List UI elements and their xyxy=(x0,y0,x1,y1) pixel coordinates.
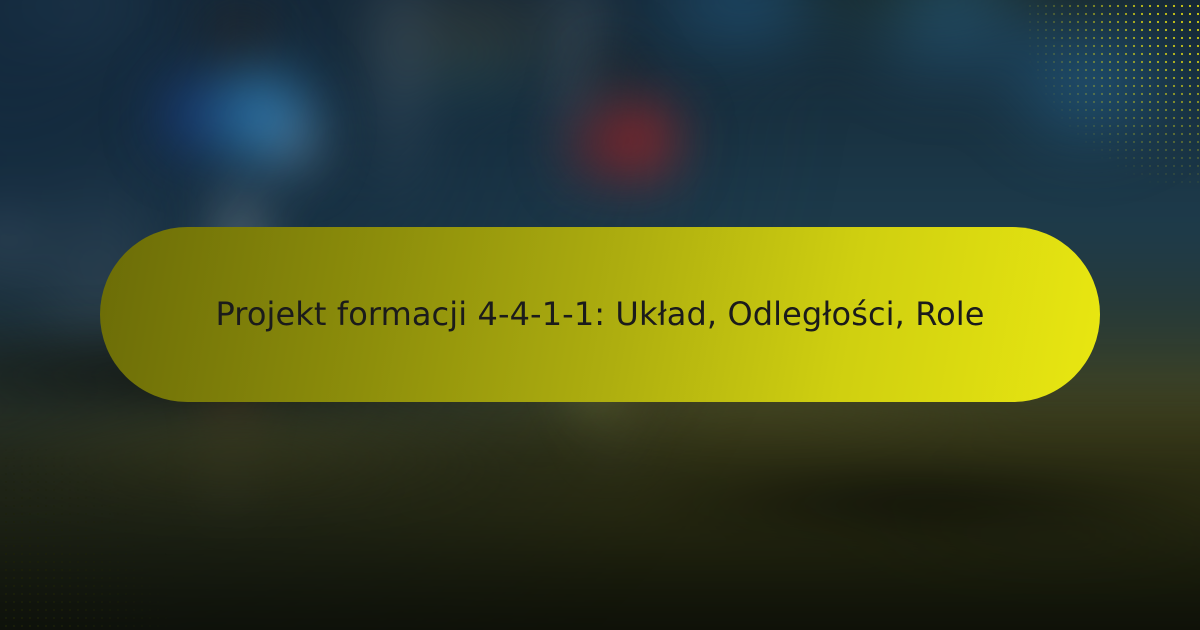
title-banner: Projekt formacji 4-4-1-1: Układ, Odległo… xyxy=(100,227,1100,402)
social-share-card: Projekt formacji 4-4-1-1: Układ, Odległo… xyxy=(0,0,1200,630)
halftone-dots-icon-topright xyxy=(1026,0,1200,184)
halftone-dots-icon-bottomleft xyxy=(0,446,174,630)
page-title: Projekt formacji 4-4-1-1: Układ, Odległo… xyxy=(215,288,984,341)
